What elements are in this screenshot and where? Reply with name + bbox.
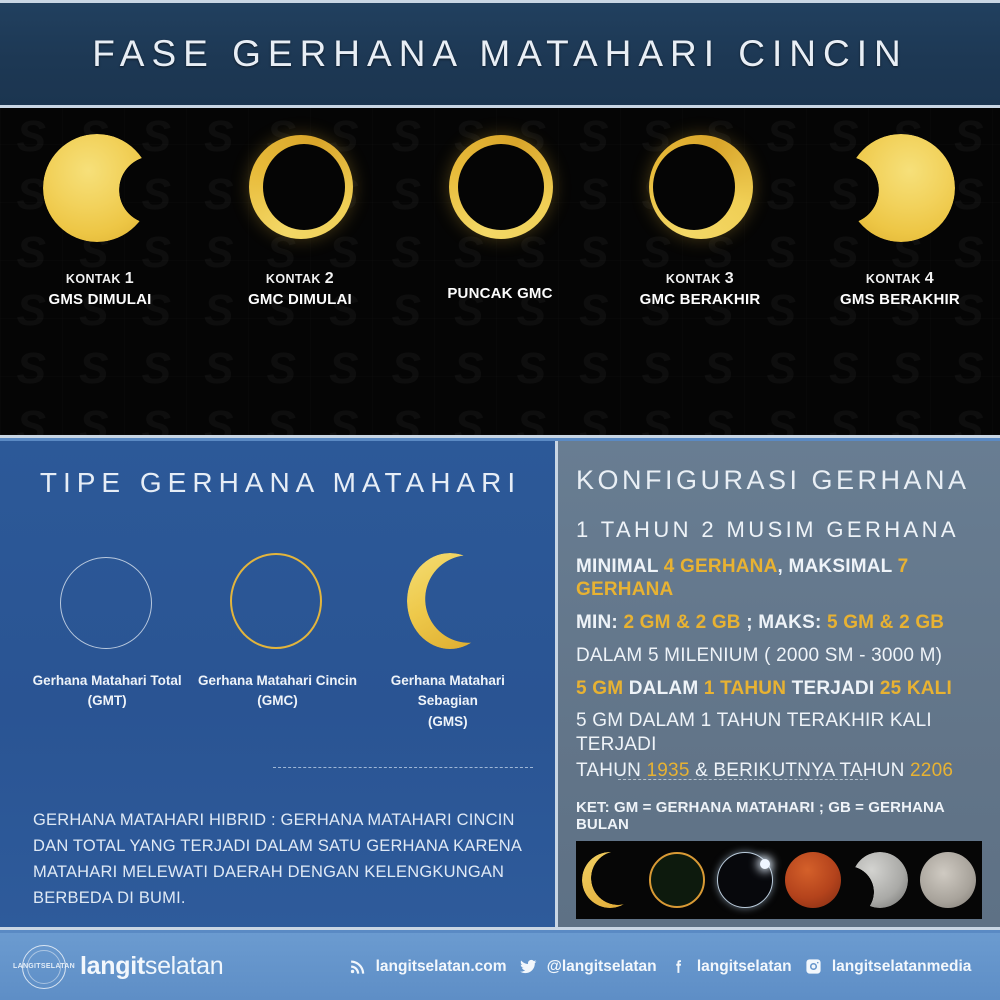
middle-section: TIPE GERHANA MATAHARI Gerhana Matahari T… bbox=[0, 441, 1000, 930]
config-5gm-value2: 1 TAHUN bbox=[704, 678, 786, 699]
instagram-icon bbox=[805, 958, 823, 976]
eclipse-photo-strip bbox=[576, 841, 982, 919]
facebook-icon bbox=[670, 958, 688, 976]
seal-text: LANGITSELATAN bbox=[13, 963, 75, 970]
eclipse-type-gmt: Gerhana Matahari Total (GMT) bbox=[22, 547, 192, 732]
phase-desc-4: GMC BERAKHIR bbox=[640, 290, 761, 310]
social-links: langitselatan.com @langitselatan langits… bbox=[342, 958, 978, 976]
eclipse-phases-section: SSSSSSSSSSSSSSSSSSSSSSSSSSSSSSSSSSSSSSSS… bbox=[0, 108, 1000, 438]
social-link-facebook[interactable]: langitselatan bbox=[670, 958, 792, 976]
brand-light-text: selatan bbox=[145, 952, 224, 980]
ring-even-icon bbox=[435, 126, 565, 256]
langitselatan-seal-icon: LANGITSELATAN bbox=[22, 945, 66, 989]
phase-contact-number-1: 1 bbox=[125, 270, 134, 287]
twitter-icon bbox=[520, 958, 538, 976]
eclipse-type-abbr-gms: (GMS) bbox=[363, 712, 533, 732]
legend-note: KET: GM = GERHANA MATAHARI ; GB = GERHAN… bbox=[576, 799, 1000, 833]
rss-icon bbox=[349, 958, 367, 976]
config-minmax-text1: MINIMAL bbox=[576, 556, 664, 577]
eclipse-types-list: Gerhana Matahari Total (GMT) Gerhana Mat… bbox=[22, 547, 533, 732]
config-last-year2: 2206 bbox=[910, 760, 953, 781]
brand-bold-text: langit bbox=[80, 952, 145, 980]
phase-item-1: KONTAK 1 GMS DIMULAI bbox=[0, 108, 200, 310]
circle-outline-icon bbox=[52, 547, 162, 657]
config-5gm-value3: 25 KALI bbox=[880, 678, 952, 699]
config-last-text1: TAHUN bbox=[576, 760, 647, 781]
eclipse-type-name-gms: Gerhana Matahari Sebagian bbox=[363, 671, 533, 712]
config-gmgb-text1: MIN: bbox=[576, 612, 623, 633]
ring-thick-right-icon bbox=[635, 126, 765, 256]
phase-item-2: KONTAK 2 GMC DIMULAI bbox=[200, 108, 400, 310]
phase-item-3: PUNCAK GMC bbox=[400, 108, 600, 304]
page-title: FASE GERHANA MATAHARI CINCIN bbox=[92, 33, 908, 75]
sun-bite-left-icon bbox=[835, 126, 965, 256]
phase-contact-number-5: 4 bbox=[925, 270, 934, 287]
phase-contact-label-2: KONTAK bbox=[266, 272, 321, 286]
social-link-twitter[interactable]: @langitselatan bbox=[520, 958, 657, 976]
config-5gm-text2: TERJADI bbox=[786, 678, 880, 699]
eclipse-types-title: TIPE GERHANA MATAHARI bbox=[22, 467, 533, 499]
configuration-title: KONFIGURASI GERHANA bbox=[576, 465, 982, 496]
hybrid-eclipse-note: GERHANA MATAHARI HIBRID : GERHANA MATAHA… bbox=[33, 807, 529, 911]
config-line-5gm: 5 GM DALAM 1 TAHUN TERJADI 25 KALI bbox=[576, 677, 982, 701]
config-line-minmax: MINIMAL 4 GERHANA, MAKSIMAL 7 GERHANA bbox=[576, 555, 982, 603]
social-link-instagram[interactable]: langitselatanmedia bbox=[805, 958, 972, 976]
photo-full-moon bbox=[920, 852, 976, 908]
divider-dashed-left bbox=[273, 767, 533, 768]
config-minmax-value1: 4 GERHANA bbox=[664, 556, 778, 577]
config-last-text2: & BERIKUTNYA TAHUN bbox=[690, 760, 910, 781]
photo-annular-solar-eclipse bbox=[649, 852, 705, 908]
phase-desc-1: GMS DIMULAI bbox=[48, 290, 151, 310]
eclipse-type-gmc: Gerhana Matahari Cincin (GMC) bbox=[192, 547, 362, 732]
brand-wordmark: langitselatan bbox=[80, 952, 223, 981]
config-gmgb-value1: 2 GM & 2 GB bbox=[623, 612, 740, 633]
eclipse-type-name-gmc: Gerhana Matahari Cincin bbox=[198, 671, 357, 691]
eclipse-type-gms: Gerhana Matahari Sebagian (GMS) bbox=[363, 547, 533, 732]
eclipse-type-abbr-gmc: (GMC) bbox=[198, 691, 357, 711]
social-label-instagram: langitselatanmedia bbox=[832, 958, 972, 976]
ring-icon bbox=[222, 547, 332, 657]
phase-item-4: KONTAK 3 GMC BERAKHIR bbox=[600, 108, 800, 310]
sun-bite-right-icon bbox=[35, 126, 165, 256]
config-5gm-text1: DALAM bbox=[623, 678, 704, 699]
phase-desc-3: PUNCAK GMC bbox=[447, 284, 552, 304]
photo-blood-moon-lunar-eclipse bbox=[785, 852, 841, 908]
social-link-website[interactable]: langitselatan.com bbox=[349, 958, 507, 976]
config-line-season: 1 TAHUN 2 MUSIM GERHANA bbox=[576, 516, 982, 544]
crescent-icon bbox=[393, 547, 503, 657]
eclipse-types-panel: TIPE GERHANA MATAHARI Gerhana Matahari T… bbox=[0, 441, 558, 930]
phase-contact-label-4: KONTAK bbox=[666, 272, 721, 286]
phase-contact-label-1: KONTAK bbox=[66, 272, 121, 286]
phase-desc-2: GMC DIMULAI bbox=[248, 290, 352, 310]
phase-contact-number-4: 3 bbox=[725, 270, 734, 287]
config-last-year1: 1935 bbox=[647, 760, 690, 781]
config-gmgb-value2: 5 GM & 2 GB bbox=[827, 612, 944, 633]
photo-partial-lunar-eclipse bbox=[852, 852, 908, 908]
social-label-twitter: @langitselatan bbox=[547, 958, 657, 976]
phase-desc-5: GMS BERAKHIR bbox=[840, 290, 960, 310]
config-minmax-text2: , MAKSIMAL bbox=[778, 556, 898, 577]
photo-total-solar-eclipse bbox=[717, 852, 773, 908]
ring-thick-left-icon bbox=[235, 126, 365, 256]
config-line-last-a: 5 GM DALAM 1 TAHUN TERAKHIR KALI TERJADI bbox=[576, 709, 982, 757]
infographic-root: FASE GERHANA MATAHARI CINCIN SSSSSSSSSSS… bbox=[0, 0, 1000, 1000]
phase-contact-label-5: KONTAK bbox=[866, 272, 921, 286]
phase-row: KONTAK 1 GMS DIMULAI KONTAK 2 GMC DIMULA… bbox=[0, 108, 1000, 435]
social-label-website: langitselatan.com bbox=[376, 958, 507, 976]
eclipse-configuration-panel: KONFIGURASI GERHANA 1 TAHUN 2 MUSIM GERH… bbox=[558, 441, 1000, 930]
eclipse-type-name-gmt: Gerhana Matahari Total bbox=[33, 671, 182, 691]
configuration-lines: 1 TAHUN 2 MUSIM GERHANA MINIMAL 4 GERHAN… bbox=[576, 516, 982, 783]
eclipse-type-abbr-gmt: (GMT) bbox=[33, 691, 182, 711]
page-header: FASE GERHANA MATAHARI CINCIN bbox=[0, 0, 1000, 108]
brand-block[interactable]: LANGITSELATAN langitselatan bbox=[22, 945, 342, 989]
config-gmgb-text2: ; MAKS: bbox=[741, 612, 827, 633]
phase-contact-number-2: 2 bbox=[325, 270, 334, 287]
divider-dashed-right bbox=[618, 779, 868, 780]
config-line-millennium: DALAM 5 MILENIUM ( 2000 SM - 3000 M) bbox=[576, 644, 982, 668]
page-footer: LANGITSELATAN langitselatan langitselata… bbox=[0, 933, 1000, 1000]
config-line-gmgb: MIN: 2 GM & 2 GB ; MAKS: 5 GM & 2 GB bbox=[576, 611, 982, 635]
phase-item-5: KONTAK 4 GMS BERAKHIR bbox=[800, 108, 1000, 310]
social-label-facebook: langitselatan bbox=[697, 958, 792, 976]
photo-crescent-solar-eclipse bbox=[582, 852, 638, 908]
config-5gm-value1: 5 GM bbox=[576, 678, 623, 699]
